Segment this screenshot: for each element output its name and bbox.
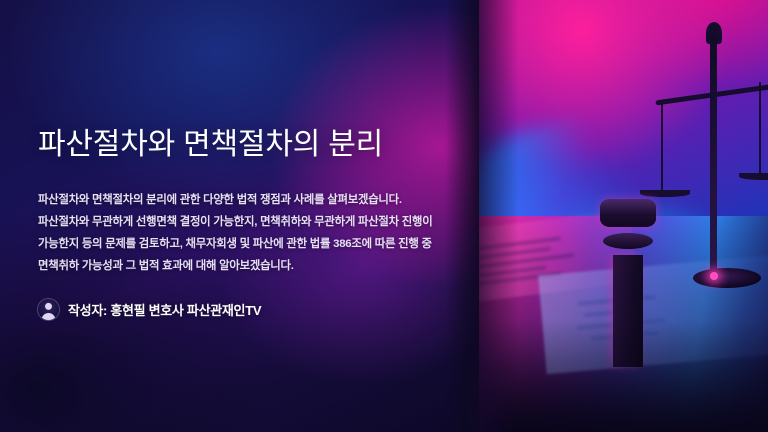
- photo-vignette: [478, 0, 768, 432]
- page-title: 파산절차와 면책절차의 분리: [38, 126, 442, 164]
- presentation-slide: 파산절차와 면책절차의 분리 파산절차와 면책절차의 분리에 관한 다양한 법적…: [0, 0, 768, 432]
- slide-description: 파산절차와 면책절차의 분리에 관한 다양한 법적 쟁점과 사례를 살펴보겠습니…: [38, 190, 442, 278]
- panel-edge-shadow: [445, 0, 479, 432]
- person-avatar-icon: [38, 299, 59, 320]
- byline-text: 작성자: 홍현필 변호사 파산관재인TV: [68, 300, 261, 319]
- text-panel: 파산절차와 면책절차의 분리 파산절차와 면책절차의 분리에 관한 다양한 법적…: [0, 0, 479, 432]
- slide-content: 파산절차와 면책절차의 분리 파산절차와 면책절차의 분리에 관한 다양한 법적…: [38, 126, 442, 320]
- hero-photo: [478, 0, 768, 432]
- byline: 작성자: 홍현필 변호사 파산관재인TV: [38, 299, 442, 320]
